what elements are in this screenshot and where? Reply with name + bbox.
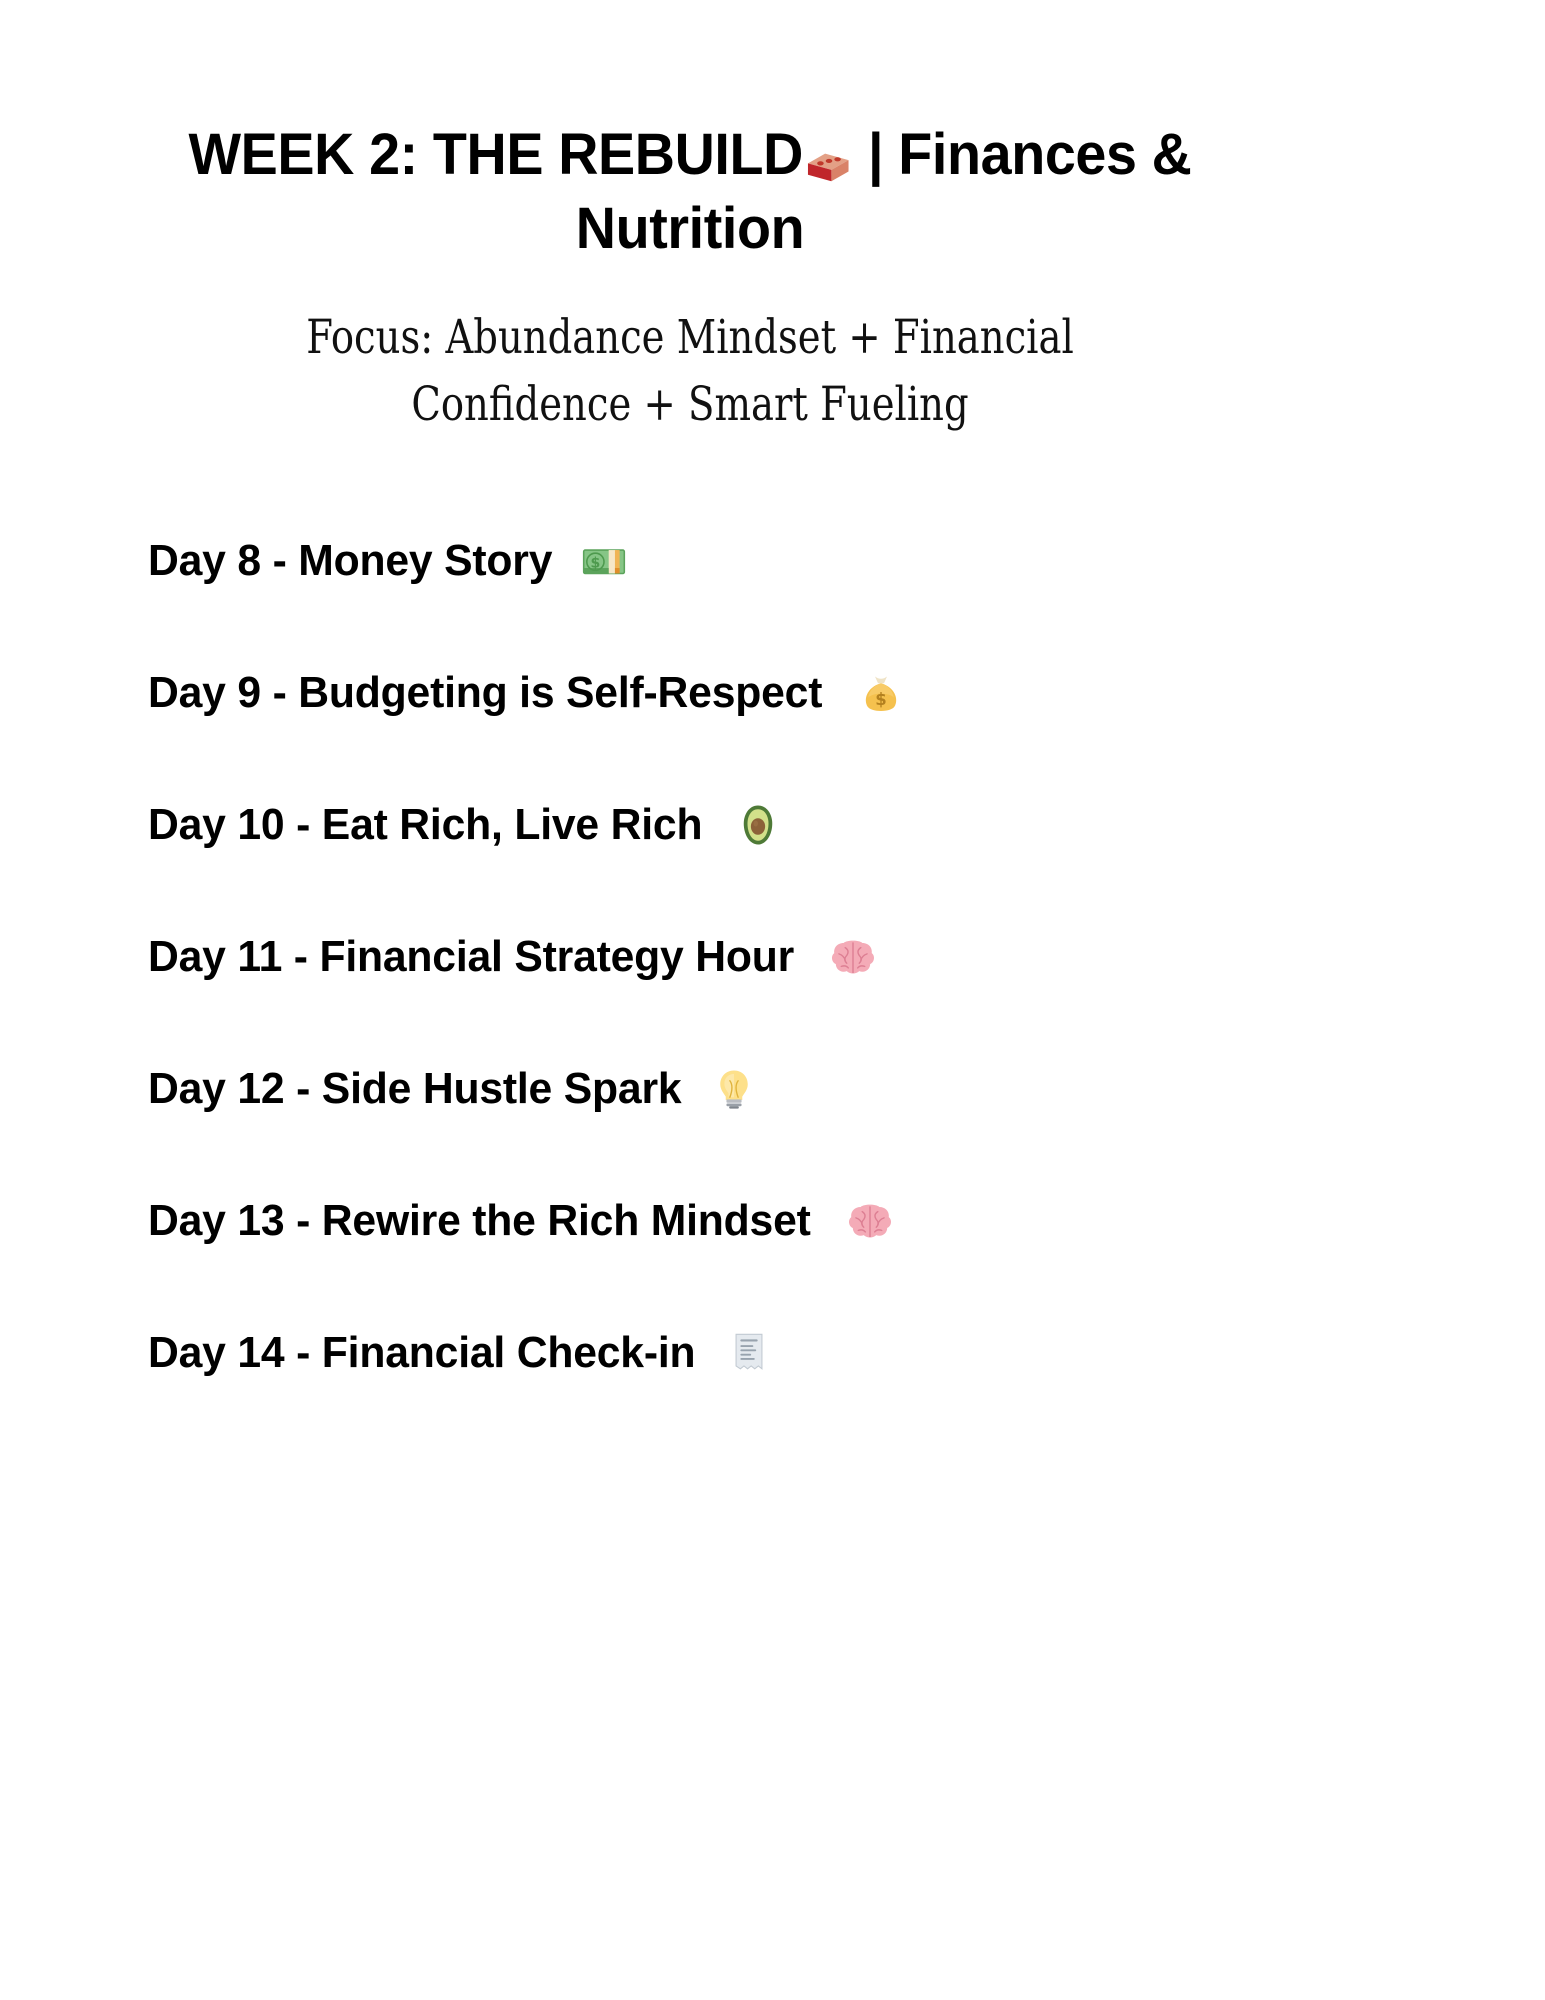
light-bulb-emoji — [712, 1067, 756, 1111]
day-label: Day 12 - Side Hustle Spark — [148, 1067, 681, 1111]
list-item: Day 10 - Eat Rich, Live Rich — [148, 759, 1408, 891]
page-title-separator: | — [853, 122, 898, 187]
day-label: Day 13 - Rewire the Rich Mindset — [148, 1199, 811, 1243]
page-subtitle-line-1: Focus: Abundance Mindset + Financial — [247, 305, 1133, 372]
day-label: Day 14 - Financial Check-in — [148, 1331, 695, 1375]
list-item: Day 13 - Rewire the Rich Mindset — [148, 1155, 1408, 1287]
receipt-emoji — [726, 1330, 772, 1376]
brain-emoji — [845, 1196, 895, 1246]
brain-emoji — [828, 932, 878, 982]
list-item: Day 11 - Financial Strategy Hour — [148, 891, 1408, 1023]
list-item: Day 14 - Financial Check-in — [148, 1287, 1408, 1419]
page-subtitle-line-2: Confidence + Smart Fueling — [247, 372, 1133, 439]
money-bag-emoji: $ — [857, 669, 905, 717]
list-item: Day 9 - Budgeting is Self-Respect $ — [148, 627, 1408, 759]
day-label: Day 11 - Financial Strategy Hour — [148, 935, 794, 979]
page-title-block: WEEK 2: THE REBUILD | Finances & Nutriti… — [140, 118, 1240, 266]
brick-emoji — [803, 139, 853, 191]
avocado-emoji — [734, 801, 782, 849]
svg-text:$: $ — [875, 690, 886, 709]
svg-text:$: $ — [590, 555, 600, 571]
page-title: WEEK 2: THE REBUILD | Finances & Nutriti… — [162, 118, 1218, 266]
day-label: Day 8 - Money Story — [148, 539, 552, 583]
list-item: Day 12 - Side Hustle Spark — [148, 1023, 1408, 1155]
list-item: Day 8 - Money Story $ — [148, 495, 1408, 627]
page-title-part-1: WEEK 2: THE REBUILD — [188, 122, 802, 187]
page-subtitle-block: Focus: Abundance Mindset + Financial Con… — [150, 305, 1230, 438]
day-list: Day 8 - Money Story $ Day 9 - Budgeting … — [148, 495, 1408, 1419]
day-label: Day 9 - Budgeting is Self-Respect — [148, 671, 822, 715]
dollar-banknote-emoji: $ — [579, 536, 629, 586]
day-label: Day 10 - Eat Rich, Live Rich — [148, 803, 702, 847]
document-page: WEEK 2: THE REBUILD | Finances & Nutriti… — [0, 0, 1545, 2000]
